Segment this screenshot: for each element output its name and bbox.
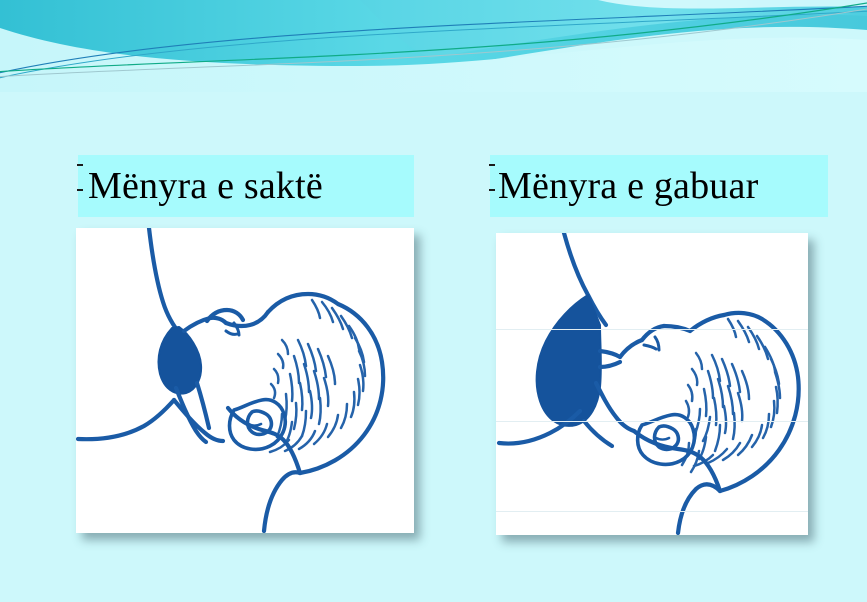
breastfeeding-incorrect-latch-illustration (496, 233, 808, 535)
slide-canvas: Mënyra e saktë (0, 0, 867, 602)
banner-artwork (0, 0, 867, 92)
figure-gridline (496, 421, 808, 422)
figure-incorrect-latch (496, 233, 808, 535)
figure-gridline (496, 511, 808, 512)
bullet-tick-marks-right (488, 161, 495, 211)
figure-gridline (496, 329, 808, 330)
decorative-wave-banner (0, 0, 867, 92)
title-incorrect: Mënyra e gabuar (498, 167, 758, 205)
title-band-incorrect: Mënyra e gabuar (490, 155, 828, 217)
title-correct: Mënyra e saktë (88, 167, 323, 205)
bullet-tick-marks-left (76, 161, 83, 211)
breastfeeding-correct-latch-illustration (76, 228, 414, 533)
figure-correct-latch (76, 228, 414, 533)
title-band-correct: Mënyra e saktë (78, 155, 414, 217)
